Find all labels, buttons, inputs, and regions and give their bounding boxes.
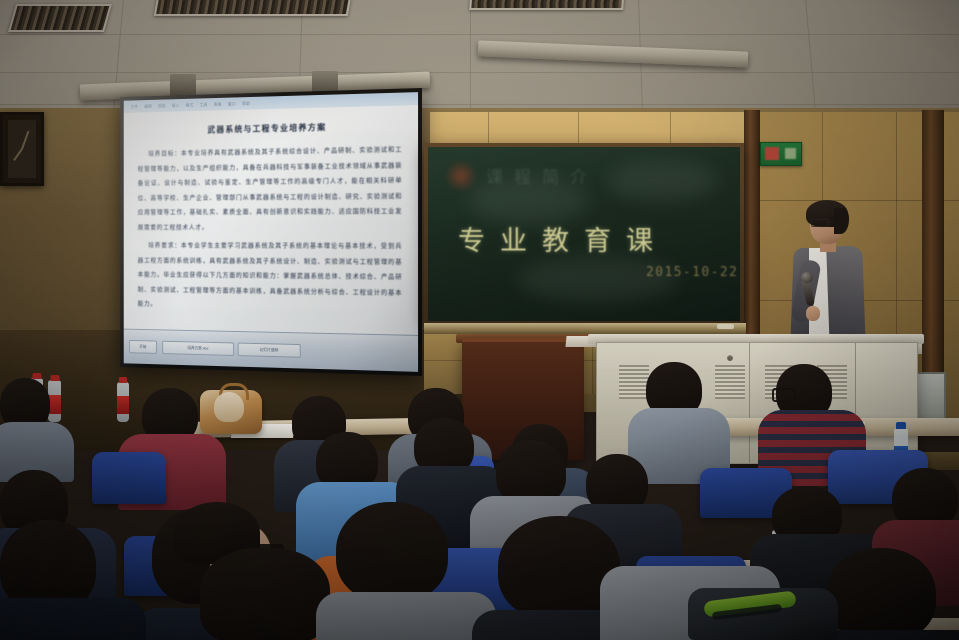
menu-item[interactable]: 表格	[214, 101, 222, 107]
menu-item[interactable]: 视图	[158, 103, 166, 109]
audience-person	[0, 520, 130, 640]
console-panel-seam	[749, 343, 750, 463]
taskbar-window-button[interactable]: 幻灯片放映	[238, 343, 301, 358]
audience-person	[826, 548, 959, 640]
speaker-hair-side	[834, 208, 849, 234]
menu-item[interactable]: 文件	[131, 104, 139, 110]
audience-person	[336, 502, 486, 640]
blackboard-headline: 专业教育课	[458, 219, 668, 258]
os-taskbar[interactable]: 开始 培养方案.doc 幻灯片放映	[124, 329, 418, 372]
bottle-softdrink	[117, 382, 129, 422]
ceiling-light-fixture-right	[469, 0, 625, 10]
menu-item[interactable]: 帮助	[242, 100, 250, 106]
document-paragraph: 培养要求：本专业学生主要学习武器系统及其子系统的基本理论与基本技术，受到兵器工程…	[138, 239, 403, 317]
handbag-flap	[214, 392, 244, 422]
blackboard-surface: 课程简介 专业教育课 2015-10-22	[428, 147, 740, 321]
blackboard-faint-text: 课程简介	[486, 163, 598, 188]
projection-screen: 文件 编辑 视图 插入 格式 工具 表格 窗口 帮助 武器系统与工程专业培养方案…	[120, 88, 422, 376]
speaker-hand	[806, 306, 820, 321]
document-paragraph: 培养目标：本专业培养具有武器系统及其子系统综合设计、产品研制、实验测试和工程管理…	[138, 142, 403, 235]
wall-clock-icon	[0, 112, 44, 186]
chalk-stick	[717, 324, 734, 329]
wall-pilaster-right	[922, 110, 944, 390]
speaker-glasses-icon	[811, 219, 829, 227]
taskbar-start-button[interactable]: 开始	[129, 340, 157, 354]
rail-bracket-left	[170, 74, 196, 96]
menu-item[interactable]: 工具	[200, 102, 208, 108]
menu-item[interactable]: 编辑	[144, 103, 152, 109]
menu-item[interactable]: 格式	[186, 102, 194, 108]
lecture-hall-photo: 文件 编辑 视图 插入 格式 工具 表格 窗口 帮助 武器系统与工程专业培养方案…	[0, 0, 959, 640]
chalk-tray	[424, 323, 746, 334]
document-text-area: 武器系统与工程专业培养方案 培养目标：本专业培养具有武器系统及其子系统综合设计、…	[124, 105, 418, 336]
console-indicator-light	[727, 355, 733, 361]
document-title: 武器系统与工程专业培养方案	[138, 119, 403, 137]
microphone-head-icon	[801, 272, 813, 283]
audience-person	[0, 378, 74, 468]
menu-item[interactable]: 窗口	[228, 101, 236, 107]
menu-item[interactable]: 插入	[172, 102, 180, 108]
ceiling-light-fixture-left	[8, 4, 112, 32]
emergency-exit-sign-icon	[760, 142, 802, 166]
blackboard: 课程简介 专业教育课 2015-10-22	[424, 143, 744, 325]
blackboard-date: 2015-10-22	[646, 265, 738, 280]
blackboard-red-chalk-mark	[444, 161, 478, 191]
ceiling-light-fixture-center	[154, 0, 353, 16]
backpack	[688, 588, 838, 640]
taskbar-window-button[interactable]: 培养方案.doc	[162, 341, 234, 356]
projected-document: 文件 编辑 视图 插入 格式 工具 表格 窗口 帮助 武器系统与工程专业培养方案…	[124, 92, 418, 372]
